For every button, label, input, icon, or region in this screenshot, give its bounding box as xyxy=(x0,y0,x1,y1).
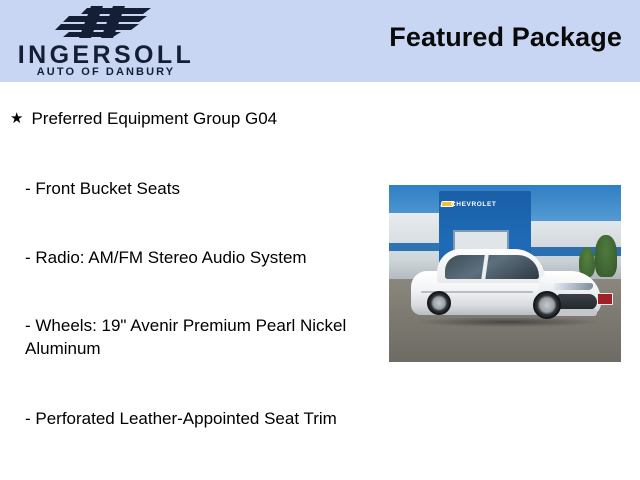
list-item: - Front Bucket Seats xyxy=(25,177,355,200)
package-heading: ★Preferred Equipment Group G04 xyxy=(10,108,370,130)
vehicle-windows xyxy=(445,255,539,279)
list-item: - Radio: AM/FM Stereo Audio System xyxy=(25,246,355,269)
vehicle-front-wheel xyxy=(533,291,561,319)
star-icon: ★ xyxy=(10,108,23,130)
vehicle-headlight xyxy=(552,283,594,290)
vehicle-license-plate xyxy=(597,293,613,305)
vehicle-photo: CHEVROLET xyxy=(389,185,621,362)
dealer-branding: INGERSOLL AUTO OF DANBURY xyxy=(0,2,215,80)
brand-subtitle: AUTO OF DANBURY xyxy=(6,66,206,78)
ingersoll-wing-emblem-icon xyxy=(47,4,162,40)
page-title: Featured Package xyxy=(389,22,622,53)
photo-vehicle xyxy=(411,247,601,331)
list-item: - Wheels: 19" Avenir Premium Pearl Nicke… xyxy=(25,314,355,360)
vehicle-shadow xyxy=(417,317,599,327)
photo-dealership-sign-text: CHEVROLET xyxy=(451,201,531,208)
brand-name: INGERSOLL xyxy=(6,42,206,68)
content-area: ★Preferred Equipment Group G04 - Front B… xyxy=(0,82,640,480)
list-item: - Perforated Leather-Appointed Seat Trim xyxy=(25,407,355,430)
page-header: INGERSOLL AUTO OF DANBURY Featured Packa… xyxy=(0,0,640,82)
package-label: Preferred Equipment Group G04 xyxy=(31,109,277,128)
vehicle-rear-wheel xyxy=(427,291,451,315)
vehicle-grille xyxy=(557,294,597,310)
